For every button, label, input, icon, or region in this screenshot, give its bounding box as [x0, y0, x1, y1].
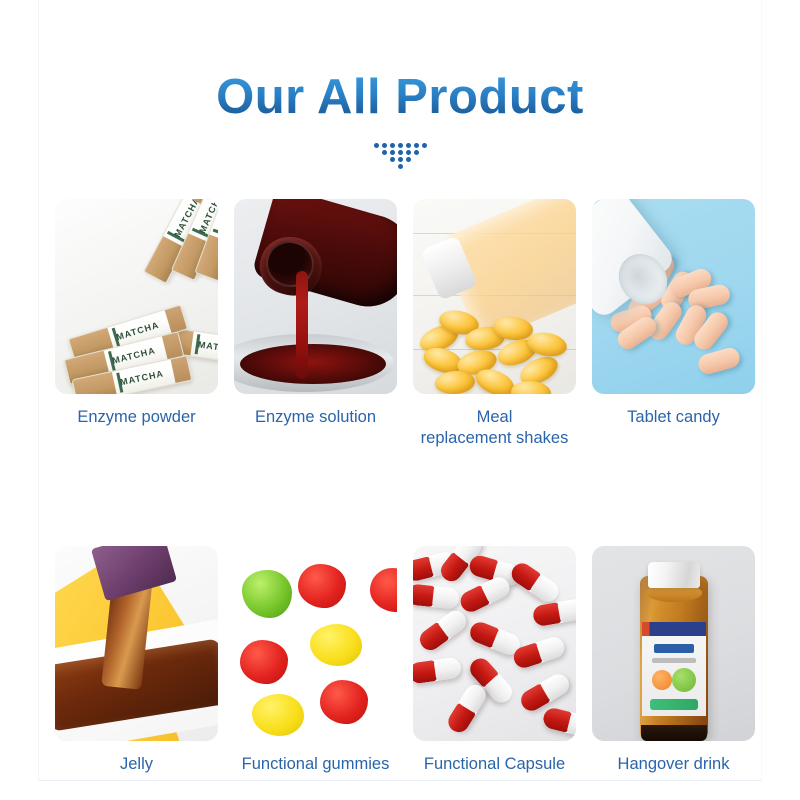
- product-label-hangover-drink: Hangover drink: [618, 754, 730, 775]
- product-card-tablet-candy[interactable]: Tablet candy: [592, 199, 755, 449]
- product-label-jelly: Jelly: [120, 754, 153, 775]
- product-label-functional-capsule: Functional Capsule: [424, 754, 565, 775]
- product-label-tablet-candy: Tablet candy: [627, 407, 720, 428]
- dot-triangle-icon: [369, 143, 431, 169]
- product-label-meal-replacement-shakes: Meal replacement shakes: [421, 407, 569, 449]
- product-label-functional-gummies: Functional gummies: [242, 754, 390, 775]
- product-image-functional-gummies[interactable]: [234, 546, 397, 741]
- dot-row-3: [390, 157, 411, 162]
- product-image-meal-replacement-shakes[interactable]: [413, 199, 576, 394]
- product-image-hangover-drink[interactable]: [592, 546, 755, 741]
- product-row-2: Jelly Functional gummies: [55, 546, 755, 775]
- product-card-enzyme-solution[interactable]: Enzyme solution: [234, 199, 397, 449]
- product-grid: MATCHA MATCHA MATCHA MATCHA MATCHA MATCH…: [55, 199, 755, 775]
- product-card-enzyme-powder[interactable]: MATCHA MATCHA MATCHA MATCHA MATCHA MATCH…: [55, 199, 218, 449]
- product-card-functional-capsule[interactable]: Functional Capsule: [413, 546, 576, 775]
- product-showcase-page: Our All Product: [0, 0, 800, 800]
- product-card-functional-gummies[interactable]: Functional gummies: [234, 546, 397, 775]
- product-image-enzyme-solution[interactable]: [234, 199, 397, 394]
- product-card-jelly[interactable]: Jelly: [55, 546, 218, 775]
- dot-row-1: [374, 143, 427, 148]
- dot-row-4: [398, 164, 403, 169]
- product-label-enzyme-powder: Enzyme powder: [77, 407, 195, 428]
- page-title: Our All Product: [0, 72, 800, 123]
- product-image-tablet-candy[interactable]: [592, 199, 755, 394]
- product-card-meal-replacement-shakes[interactable]: Meal replacement shakes: [413, 199, 576, 449]
- product-row-1: MATCHA MATCHA MATCHA MATCHA MATCHA MATCH…: [55, 199, 755, 449]
- product-image-jelly[interactable]: [55, 546, 218, 741]
- product-card-hangover-drink[interactable]: Hangover drink: [592, 546, 755, 775]
- dot-row-2: [382, 150, 419, 155]
- product-image-functional-capsule[interactable]: [413, 546, 576, 741]
- product-label-enzyme-solution: Enzyme solution: [255, 407, 376, 428]
- product-image-enzyme-powder[interactable]: MATCHA MATCHA MATCHA MATCHA MATCHA MATCH…: [55, 199, 218, 394]
- page-header: Our All Product: [0, 72, 800, 169]
